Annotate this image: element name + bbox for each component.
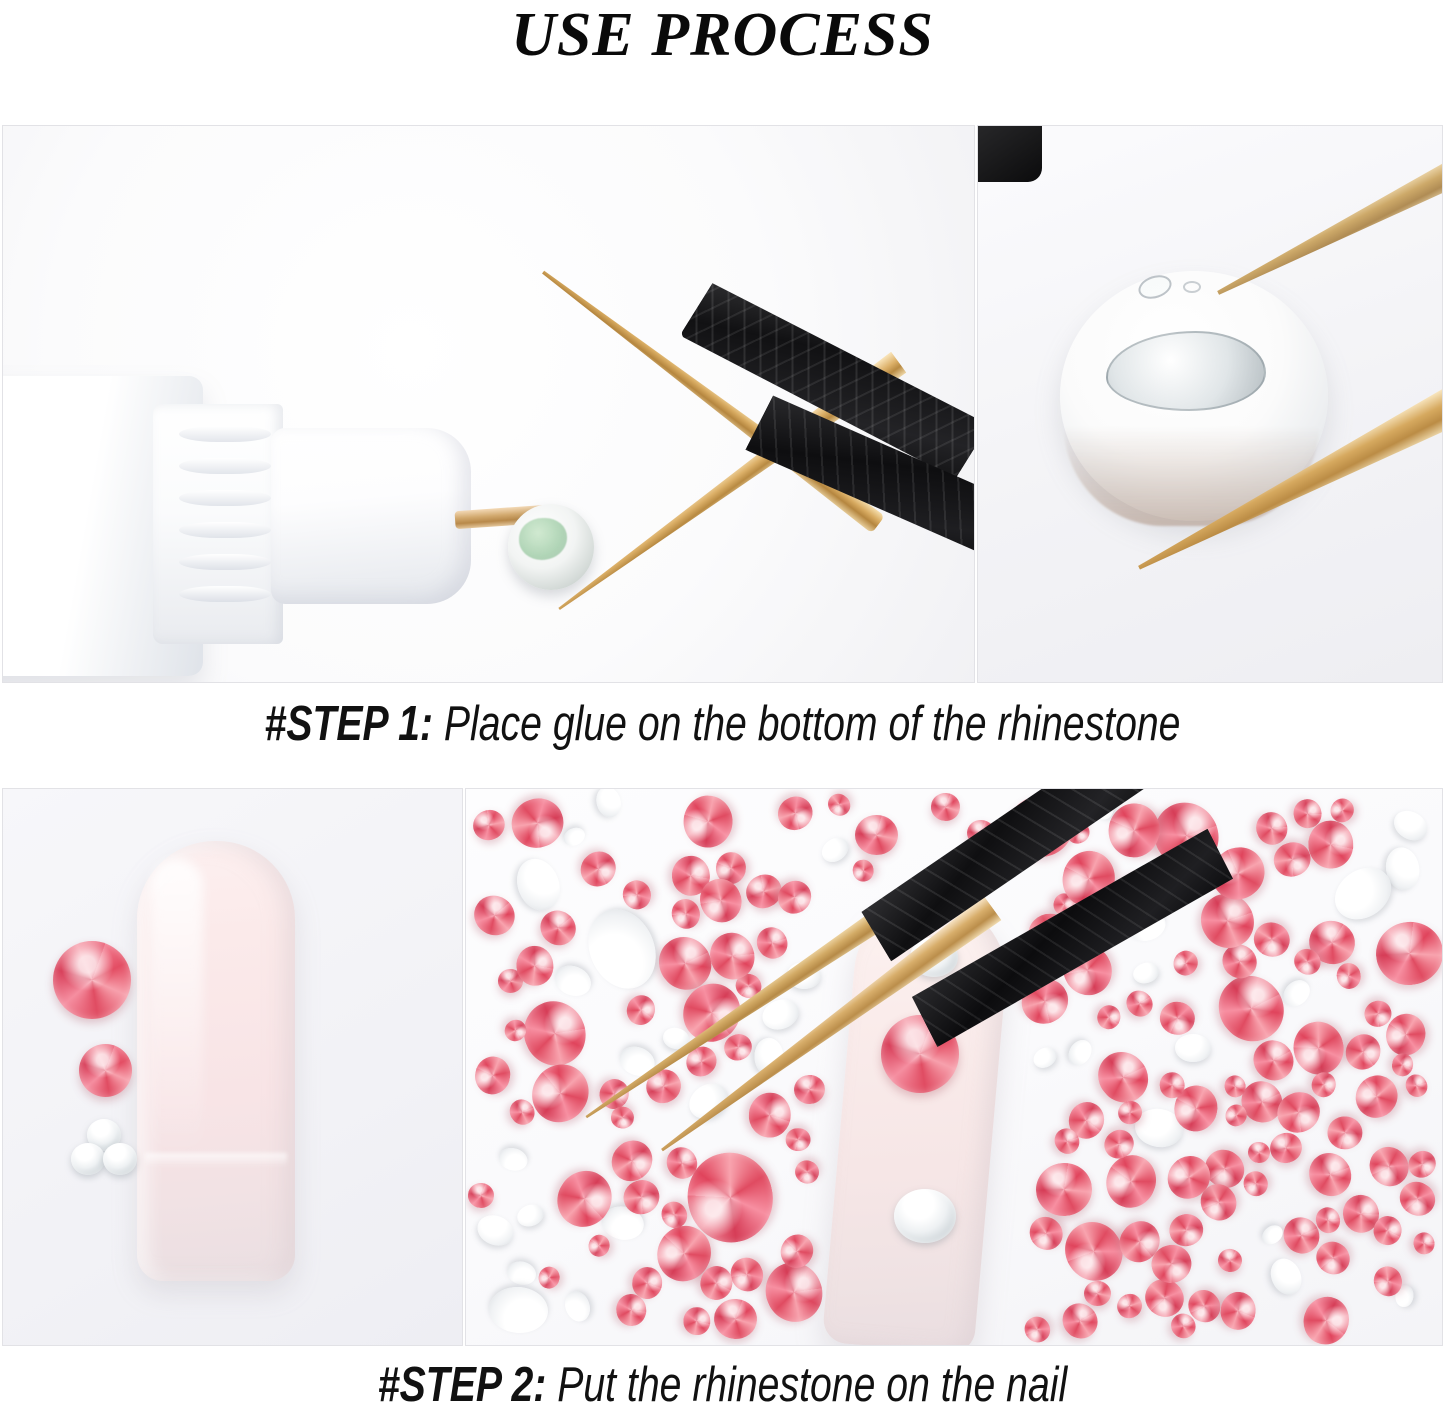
rhinestone-pink bbox=[1218, 1290, 1258, 1332]
rhinestone-pink bbox=[1246, 1140, 1271, 1164]
press-on-nail bbox=[137, 841, 295, 1281]
rhinestone-pink bbox=[1288, 1017, 1349, 1080]
rhinestone-pink bbox=[505, 792, 570, 855]
rhinestone-pink bbox=[772, 790, 818, 835]
glue-bottle-thread bbox=[179, 586, 271, 602]
rhinestone-clear bbox=[103, 1143, 137, 1175]
rhinestone-pink bbox=[1033, 1160, 1095, 1219]
rhinestone-flat-back bbox=[1258, 1221, 1286, 1248]
rhinestone-flat-back bbox=[514, 1201, 547, 1230]
rhinestone-pink bbox=[469, 805, 511, 846]
rhinestone-pink bbox=[1307, 819, 1355, 870]
rhinestone-flat-back bbox=[560, 824, 588, 849]
rhinestone-flat-back bbox=[1063, 1035, 1096, 1070]
rhinestone-pink bbox=[1094, 1002, 1123, 1032]
rhinestone-pink bbox=[793, 1074, 827, 1106]
rhinestone-pink bbox=[1215, 1247, 1244, 1275]
rhinestone-flat-back bbox=[487, 1284, 550, 1335]
rhinestone-pink bbox=[619, 876, 655, 913]
rhinestone-pink bbox=[1099, 1149, 1164, 1216]
rhinestone-pink bbox=[747, 1091, 792, 1138]
rhinestone-clear-cluster bbox=[71, 1119, 137, 1177]
rhinestone-pink bbox=[667, 896, 704, 934]
rhinestone-pink bbox=[1410, 1230, 1437, 1258]
rhinestone-pink bbox=[1335, 962, 1363, 992]
rhinestone-flat-back bbox=[1030, 1043, 1061, 1072]
glue-bottle-tip-cone bbox=[271, 428, 471, 604]
nail-tip-line bbox=[145, 1153, 287, 1167]
rhinestone-pink bbox=[823, 790, 854, 821]
glue-bubble bbox=[1183, 281, 1201, 293]
rhinestone-pink bbox=[1327, 1116, 1363, 1150]
glue-bottle-thread bbox=[179, 458, 271, 474]
step-2-caption: #STEP 2: Put the rhinestone on the nail bbox=[145, 1358, 1301, 1412]
rhinestone-flat-back bbox=[1175, 1033, 1212, 1062]
rhinestone-flat-back bbox=[505, 1259, 539, 1288]
rhinestone-flat-back bbox=[593, 788, 625, 820]
rhinestone-pink bbox=[533, 904, 582, 953]
rhinestone-pink bbox=[1403, 1145, 1441, 1183]
rhinestone-pink bbox=[573, 844, 623, 894]
rhinestone-pink bbox=[1023, 1209, 1070, 1256]
rhinestone-pink bbox=[683, 795, 733, 848]
rhinestone-pink bbox=[1372, 917, 1443, 988]
rhinestone-pink-small bbox=[79, 1044, 132, 1097]
rhinestone-pink bbox=[623, 992, 659, 1029]
rhinestone-pink bbox=[1390, 1051, 1415, 1077]
rhinestone-pink bbox=[786, 1128, 811, 1152]
glue-bottle-thread bbox=[179, 554, 271, 570]
rhinestone-pink bbox=[472, 1054, 513, 1097]
rhinestone-pink bbox=[792, 1158, 823, 1188]
rhinestone-pink bbox=[851, 858, 875, 883]
rhinestone-flat-back bbox=[817, 833, 852, 866]
step-1-text: Place glue on the bottom of the rhinesto… bbox=[433, 697, 1180, 751]
step-2-label: #STEP 2: bbox=[378, 1358, 546, 1412]
panel-top-right bbox=[977, 125, 1443, 683]
rhinestone-pink bbox=[610, 1105, 636, 1130]
rhinestone-clear bbox=[71, 1143, 105, 1175]
panel-top-left bbox=[2, 125, 975, 683]
rhinestone-pink bbox=[1170, 947, 1203, 981]
rhinestone-pink bbox=[1338, 1027, 1387, 1076]
rhinestone-pink bbox=[1084, 1280, 1111, 1306]
rhinestone-pink bbox=[1158, 1000, 1198, 1038]
rhinestone-flat-back bbox=[510, 853, 567, 917]
rhinestone-pink bbox=[603, 1132, 660, 1189]
panel-bottom-left bbox=[2, 788, 463, 1346]
rhinestone-pink bbox=[466, 1182, 495, 1209]
use-process-infographic: USE PROCESS #STEP 1: Place gl bbox=[0, 0, 1445, 1412]
rhinestone-pink bbox=[726, 1253, 768, 1297]
rhinestone-pink bbox=[751, 921, 794, 964]
rhinestone-pink bbox=[1121, 985, 1158, 1022]
rhinestone-pink bbox=[536, 1264, 562, 1291]
rhinestone-pink bbox=[1019, 1311, 1055, 1346]
rhinestone-pink bbox=[1296, 1289, 1356, 1346]
page-title: USE PROCESS bbox=[0, 2, 1445, 68]
rhinestone-flat-back bbox=[550, 960, 596, 1001]
rhinestone-pink bbox=[855, 815, 898, 855]
glue-bottle-thread bbox=[179, 522, 271, 538]
rhinestone-pink bbox=[1249, 917, 1294, 961]
rhinestone-pink bbox=[585, 1231, 612, 1259]
rhinestone-pink bbox=[712, 1298, 758, 1342]
rhinestone-flat-back bbox=[1131, 959, 1162, 986]
panel-bottom-right bbox=[465, 788, 1443, 1346]
rhinestone-pink-large bbox=[53, 941, 131, 1019]
rhinestone-pink bbox=[521, 1054, 600, 1134]
rhinestone-pink bbox=[466, 887, 522, 942]
step-2-text: Put the rhinestone on the nail bbox=[546, 1358, 1067, 1412]
rhinestone-flat-back bbox=[1389, 805, 1433, 846]
rhinestone-pink bbox=[1267, 1129, 1306, 1167]
rhinestone-pink bbox=[1347, 1067, 1406, 1126]
nail-highlight bbox=[151, 859, 203, 1159]
tweezer-grip-corner bbox=[977, 125, 1042, 182]
rhinestone-pink bbox=[930, 792, 962, 822]
glue-bottle-thread bbox=[179, 426, 271, 442]
step-1-caption: #STEP 1: Place glue on the bottom of the… bbox=[145, 697, 1301, 751]
rhinestone-flat-back bbox=[1266, 1254, 1307, 1299]
rhinestone-flat-back bbox=[560, 1287, 594, 1325]
rhinestone-pink bbox=[1112, 1290, 1146, 1324]
rhinestone-clear-cluster bbox=[894, 1189, 956, 1243]
rhinestone-flat-back bbox=[496, 1144, 529, 1173]
rhinestone-pink bbox=[1205, 963, 1296, 1054]
rhinestone-flat-back bbox=[473, 1210, 518, 1251]
rhinestone-flat-back bbox=[1279, 975, 1316, 1012]
step-1-label: #STEP 1: bbox=[265, 697, 433, 751]
glue-bottle-thread bbox=[179, 490, 271, 506]
rhinestone-pink bbox=[683, 1307, 710, 1336]
